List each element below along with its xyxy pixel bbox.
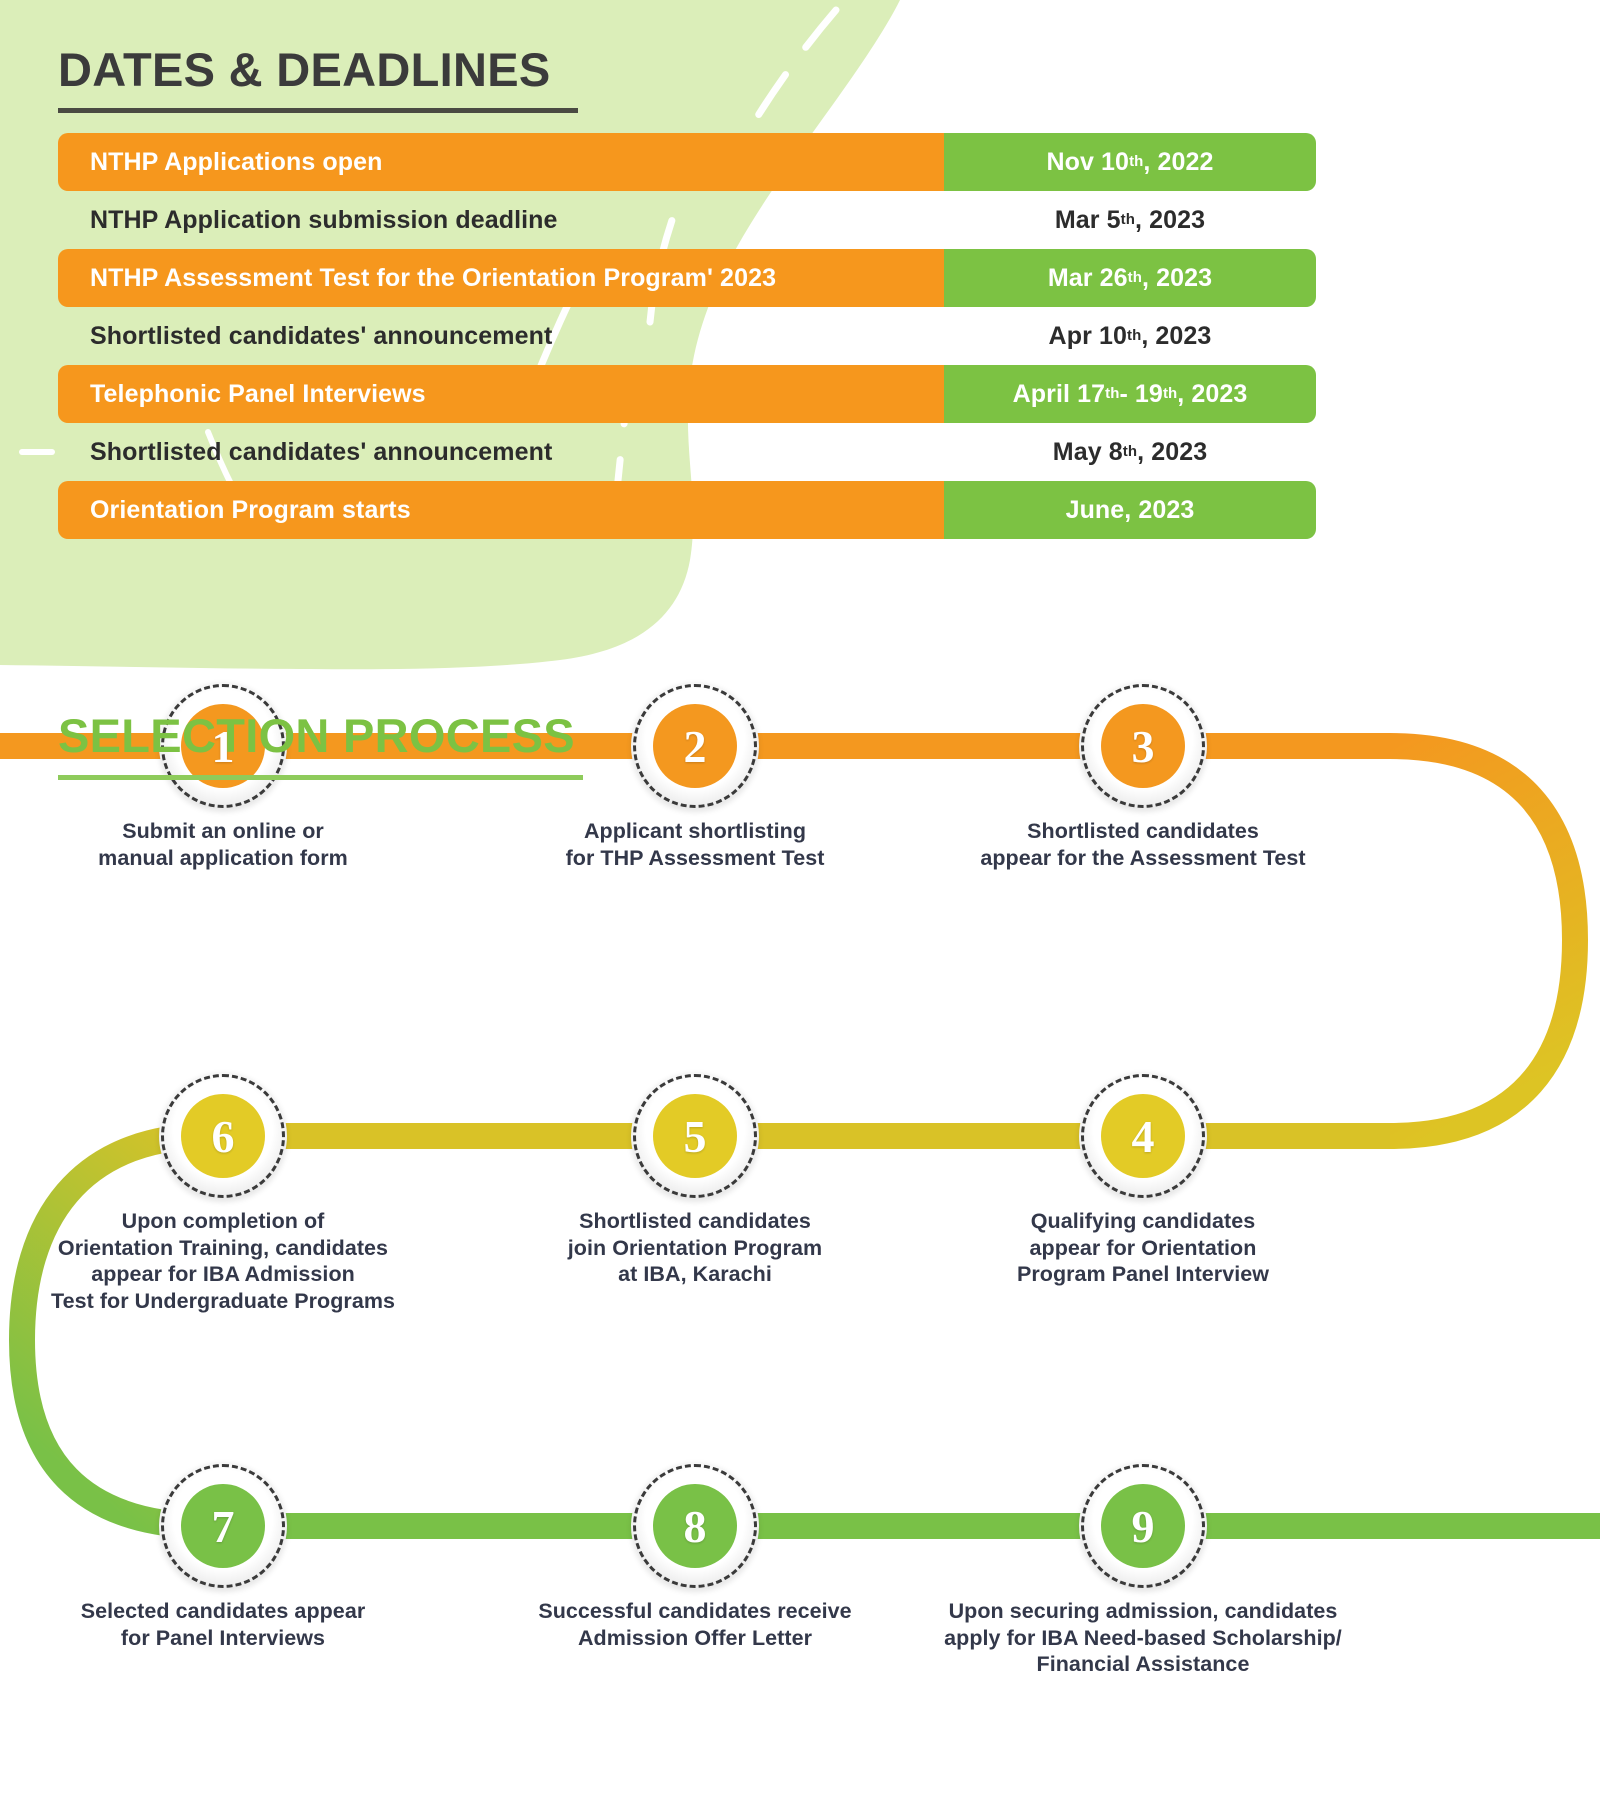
dates-deadlines-table: NTHP Applications openNov 10th, 2022NTHP… (0, 133, 1600, 539)
step-node-9[interactable]: 9 (1079, 1462, 1207, 1590)
step-caption-line: Applicant shortlisting (485, 818, 905, 845)
step-caption-line: Orientation Training, candidates (8, 1235, 438, 1262)
milestone-label: Telephonic Panel Interviews (58, 365, 944, 423)
step-caption-line: apply for IBA Need-based Scholarship/ (908, 1625, 1378, 1652)
milestone-date: Apr 10th, 2023 (944, 307, 1316, 365)
connector-curve-right (1390, 746, 1575, 1136)
table-row: NTHP Application submission deadlineMar … (0, 191, 1600, 249)
milestone-date: Mar 5th, 2023 (944, 191, 1316, 249)
milestone-label: NTHP Application submission deadline (58, 191, 944, 249)
milestone-date: May 8th, 2023 (944, 423, 1316, 481)
step-caption-line: Selected candidates appear (13, 1598, 433, 1625)
step-node-6[interactable]: 6 (159, 1072, 287, 1200)
table-row: Shortlisted candidates' announcementMay … (0, 423, 1600, 481)
step-caption-line: Submit an online or (13, 818, 433, 845)
step-number: 6 (181, 1094, 265, 1178)
selection-process-flow: 1Submit an online ormanual application f… (0, 680, 1600, 1803)
step-caption-3: Shortlisted candidatesappear for the Ass… (908, 818, 1378, 871)
milestone-date: April 17th - 19th, 2023 (944, 365, 1316, 423)
step-node-4[interactable]: 4 (1079, 1072, 1207, 1200)
milestone-label: Shortlisted candidates' announcement (58, 423, 944, 481)
step-caption-9: Upon securing admission, candidatesapply… (908, 1598, 1378, 1678)
step-caption-line: manual application form (13, 845, 433, 872)
step-number: 9 (1101, 1484, 1185, 1568)
step-caption-line: appear for the Assessment Test (908, 845, 1378, 872)
step-caption-line: Financial Assistance (908, 1651, 1378, 1678)
step-caption-line: Shortlisted candidates (485, 1208, 905, 1235)
step-number: 5 (653, 1094, 737, 1178)
dates-title-underline (58, 108, 578, 113)
step-number: 3 (1101, 704, 1185, 788)
step-node-3[interactable]: 3 (1079, 682, 1207, 810)
infographic-root: DATES & DEADLINES NTHP Applications open… (0, 0, 1600, 1803)
step-caption-line: Qualifying candidates (928, 1208, 1358, 1235)
step-node-2[interactable]: 2 (631, 682, 759, 810)
table-row: NTHP Applications openNov 10th, 2022 (0, 133, 1600, 191)
step-caption-line: Test for Undergraduate Programs (8, 1288, 438, 1315)
step-number: 8 (653, 1484, 737, 1568)
step-caption-6: Upon completion ofOrientation Training, … (8, 1208, 438, 1315)
milestone-date: June, 2023 (944, 481, 1316, 539)
step-node-5[interactable]: 5 (631, 1072, 759, 1200)
step-caption-4: Qualifying candidatesappear for Orientat… (928, 1208, 1358, 1288)
page-title-dates: DATES & DEADLINES (58, 42, 551, 97)
step-caption-line: at IBA, Karachi (485, 1261, 905, 1288)
step-caption-5: Shortlisted candidatesjoin Orientation P… (485, 1208, 905, 1288)
step-caption-line: Shortlisted candidates (908, 818, 1378, 845)
step-caption-line: for Panel Interviews (13, 1625, 433, 1652)
step-caption-line: appear for Orientation (928, 1235, 1358, 1262)
table-row: NTHP Assessment Test for the Orientation… (0, 249, 1600, 307)
step-number: 4 (1101, 1094, 1185, 1178)
step-node-8[interactable]: 8 (631, 1462, 759, 1590)
step-caption-line: Upon securing admission, candidates (908, 1598, 1378, 1625)
step-node-7[interactable]: 7 (159, 1462, 287, 1590)
step-caption-line: Upon completion of (8, 1208, 438, 1235)
milestone-label: Orientation Program starts (58, 481, 944, 539)
step-caption-line: Successful candidates receive (480, 1598, 910, 1625)
step-caption-line: Admission Offer Letter (480, 1625, 910, 1652)
step-number: 7 (181, 1484, 265, 1568)
milestone-date: Mar 26th, 2023 (944, 249, 1316, 307)
table-row: Orientation Program startsJune, 2023 (0, 481, 1600, 539)
milestone-label: NTHP Applications open (58, 133, 944, 191)
step-caption-7: Selected candidates appearfor Panel Inte… (13, 1598, 433, 1651)
milestone-label: Shortlisted candidates' announcement (58, 307, 944, 365)
step-number: 2 (653, 704, 737, 788)
table-row: Telephonic Panel InterviewsApril 17th - … (0, 365, 1600, 423)
step-caption-line: appear for IBA Admission (8, 1261, 438, 1288)
step-caption-line: for THP Assessment Test (485, 845, 905, 872)
milestone-label: NTHP Assessment Test for the Orientation… (58, 249, 944, 307)
step-caption-line: join Orientation Program (485, 1235, 905, 1262)
step-caption-8: Successful candidates receiveAdmission O… (480, 1598, 910, 1651)
step-caption-line: Program Panel Interview (928, 1261, 1358, 1288)
milestone-date: Nov 10th, 2022 (944, 133, 1316, 191)
page-title-selection: SELECTION PROCESS (58, 708, 575, 763)
step-caption-2: Applicant shortlistingfor THP Assessment… (485, 818, 905, 871)
step-caption-1: Submit an online ormanual application fo… (13, 818, 433, 871)
table-row: Shortlisted candidates' announcementApr … (0, 307, 1600, 365)
selection-title-underline (58, 775, 583, 780)
